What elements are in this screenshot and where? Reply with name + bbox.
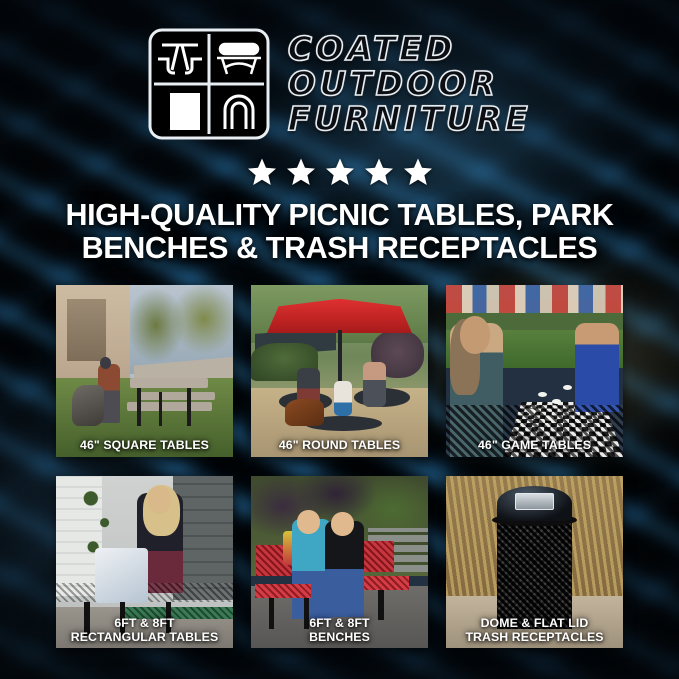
- product-caption: 46" SQUARE TABLES: [58, 439, 231, 452]
- product-caption-line-1: 46" GAME TABLES: [478, 438, 591, 452]
- brand-line-2: OUTDOOR: [288, 67, 531, 101]
- star-icon: [286, 157, 316, 187]
- product-caption: DOME & FLAT LID TRASH RECEPTACLES: [448, 617, 621, 644]
- brand-line-1: COATED: [288, 32, 531, 66]
- product-grid: 46" SQUARE TABLES: [56, 285, 623, 648]
- headline: HIGH-QUALITY PICNIC TABLES, PARK BENCHES…: [40, 199, 639, 264]
- four-quadrant-furniture-icon: [148, 28, 270, 140]
- star-icon: [403, 157, 433, 187]
- product-photo: [251, 285, 428, 457]
- star-icon: [247, 157, 277, 187]
- product-caption-line-2: RECTANGULAR TABLES: [58, 631, 231, 644]
- product-caption: 6FT & 8FT BENCHES: [253, 617, 426, 644]
- product-caption: 46" GAME TABLES: [448, 439, 621, 452]
- star-icon: [364, 157, 394, 187]
- brand-wordmark: COATED OUTDOOR FURNITURE: [288, 32, 531, 136]
- product-caption-line-2: BENCHES: [253, 631, 426, 644]
- star-rating: [0, 155, 679, 189]
- product-caption-line-2: TRASH RECEPTACLES: [448, 631, 621, 644]
- product-tile-rectangular-tables[interactable]: 6FT & 8FT RECTANGULAR TABLES: [56, 476, 233, 648]
- brand-line-3: FURNITURE: [288, 102, 531, 136]
- headline-line-2: BENCHES & TRASH RECEPTACLES: [40, 232, 639, 265]
- product-photo: [56, 285, 233, 457]
- headline-line-1: HIGH-QUALITY PICNIC TABLES, PARK: [65, 198, 613, 232]
- product-caption: 6FT & 8FT RECTANGULAR TABLES: [58, 617, 231, 644]
- product-caption-line-1: 6FT & 8FT: [309, 616, 369, 630]
- brand-logo: COATED OUTDOOR FURNITURE: [0, 24, 679, 144]
- trash-receptacle-icon: [171, 94, 199, 129]
- product-caption-line-1: 46" SQUARE TABLES: [80, 438, 209, 452]
- product-tile-benches[interactable]: 6FT & 8FT BENCHES: [251, 476, 428, 648]
- product-caption-line-1: DOME & FLAT LID: [481, 616, 589, 630]
- product-tile-square-tables[interactable]: 46" SQUARE TABLES: [56, 285, 233, 457]
- product-tile-game-tables[interactable]: 46" GAME TABLES: [446, 285, 623, 457]
- promo-banner: COATED OUTDOOR FURNITURE HIGH-QUALITY PI…: [0, 0, 679, 679]
- product-caption: 46" ROUND TABLES: [253, 439, 426, 452]
- product-caption-line-1: 46" ROUND TABLES: [279, 438, 400, 452]
- product-caption-line-1: 6FT & 8FT: [114, 616, 174, 630]
- product-tile-round-tables[interactable]: 46" ROUND TABLES: [251, 285, 428, 457]
- product-photo: [446, 285, 623, 457]
- product-tile-trash-receptacles[interactable]: DOME & FLAT LID TRASH RECEPTACLES: [446, 476, 623, 648]
- star-icon: [325, 157, 355, 187]
